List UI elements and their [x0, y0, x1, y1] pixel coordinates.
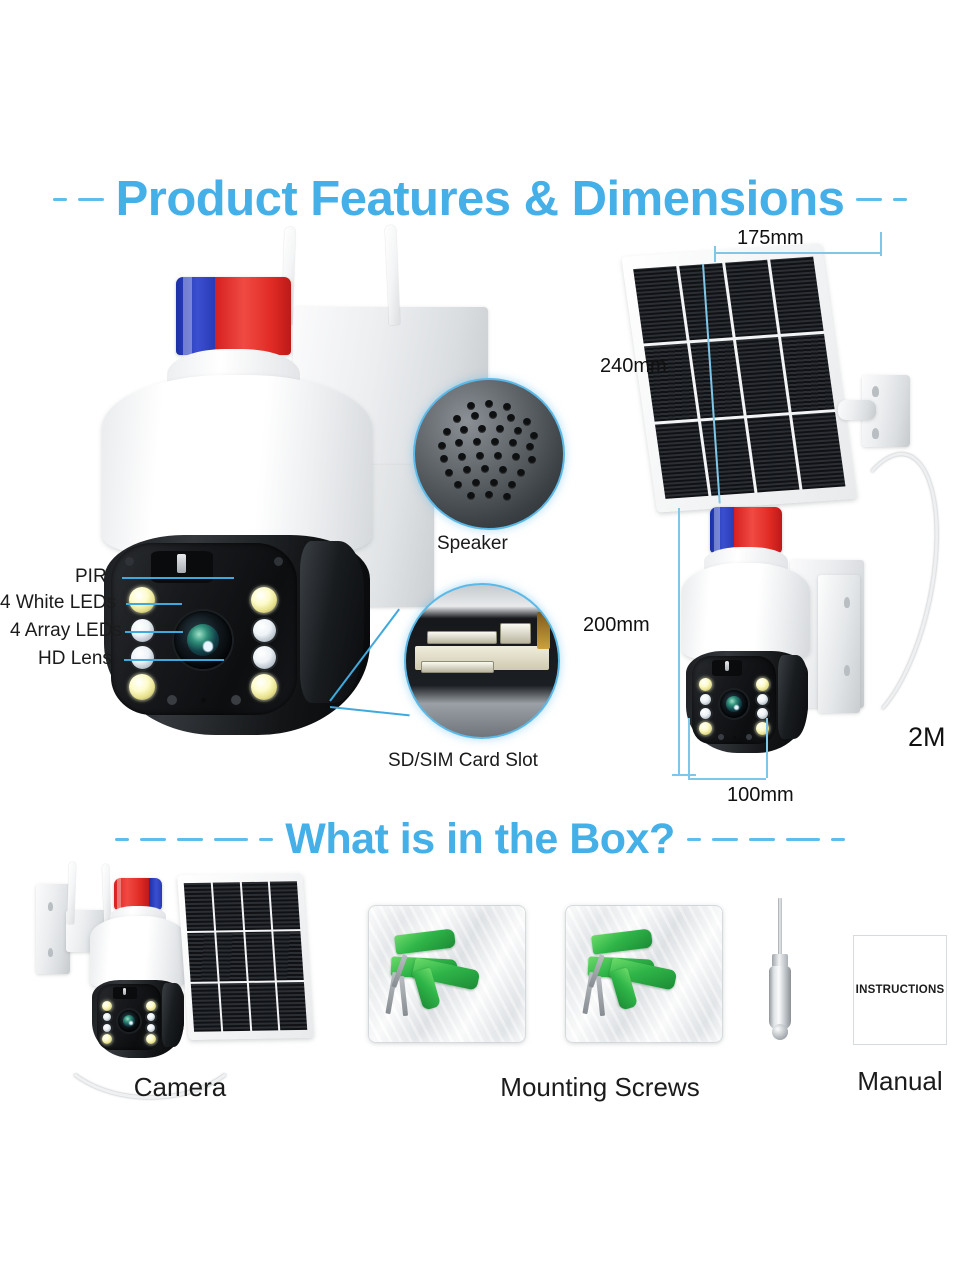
dim-tick-camera-height-bottom [672, 774, 696, 776]
dash [893, 198, 907, 201]
dim-tick-panel-width-left [714, 246, 716, 262]
box-item-label-screws: Mounting Screws [470, 1072, 730, 1103]
box-title-dashes-right [675, 838, 845, 841]
callout-line-array-leds [125, 631, 183, 633]
small-microphone-hole [733, 736, 736, 739]
callout-line-white-leds [126, 603, 182, 605]
small-status-sensor [746, 734, 752, 740]
solar-cell [270, 881, 300, 930]
dash [115, 838, 129, 841]
small-camera-shoulder [778, 655, 808, 739]
array-led [253, 619, 276, 642]
beacon-blue-half [176, 277, 215, 355]
callout-line-pir [122, 577, 234, 579]
capacitor [537, 612, 551, 648]
dash [214, 838, 248, 841]
solar-cell [736, 337, 789, 415]
dash [712, 838, 738, 841]
small-array-led [700, 708, 711, 719]
dash [786, 838, 820, 841]
beacon-gloss [183, 277, 192, 355]
dash [140, 838, 166, 841]
beacon-blue-half [149, 878, 162, 910]
box-item-label-manual: Manual [840, 1066, 960, 1097]
beacon-gloss [117, 878, 121, 910]
dash [259, 838, 273, 841]
features-title-text: Product Features & Dimensions [116, 171, 845, 227]
box-title-text: What is in the Box? [285, 815, 674, 864]
dimensioned-camera-illustration [672, 505, 922, 800]
mount-keyhole-bottom [872, 428, 879, 439]
small-light-sensor [718, 734, 724, 740]
white-led [129, 674, 155, 700]
camera-shoulder [300, 541, 364, 703]
sim-card-slot [421, 661, 494, 673]
mounting-screws-bag-1 [368, 905, 526, 1043]
status-sensor [231, 695, 241, 705]
corner-screw-left [125, 557, 134, 566]
product-infographic: Product Features & Dimensions [0, 0, 960, 1280]
sd-card-slot [427, 631, 497, 645]
microphone-hole [201, 698, 206, 703]
white-led [251, 674, 277, 700]
screwdriver-illustration [760, 898, 802, 1043]
callout-label-speaker: Speaker [437, 533, 508, 555]
callout-label-white-leds: 4 White LEDs [0, 592, 116, 614]
small-white-led [756, 678, 769, 691]
small-pir-sensor [712, 660, 742, 676]
small-camera-dome [682, 563, 810, 659]
wall-anchor [591, 928, 653, 954]
screw [399, 976, 408, 1016]
solar-cell [770, 256, 823, 334]
solar-panel-illustration [621, 242, 878, 523]
small-hd-lens [720, 690, 748, 718]
small-white-led [699, 678, 712, 691]
dash [687, 838, 701, 841]
solar-cell [725, 260, 778, 338]
callout-label-sdsim: SD/SIM Card Slot [388, 750, 538, 772]
small-face-plate [692, 656, 776, 744]
box-item-camera [28, 862, 348, 1062]
small-camera-head [686, 651, 808, 753]
solar-cell [792, 412, 845, 490]
solar-cell [184, 883, 214, 932]
screw [596, 976, 605, 1016]
manual-instruction-booklet: INSTRUCTIONS [853, 935, 947, 1045]
small-array-led [700, 694, 711, 705]
section-title-features: Product Features & Dimensions [0, 168, 960, 230]
dash [177, 838, 203, 841]
box-wall-plate [36, 884, 70, 974]
callout-label-array-leds: 4 Array LEDs [10, 620, 122, 642]
title-dashes-right [844, 198, 907, 201]
screwdriver-end-cap [772, 1024, 788, 1040]
dim-tick-camera-width-left [688, 718, 690, 778]
callout-label-pir: PIR [75, 566, 107, 588]
white-led [251, 587, 277, 613]
dash [831, 838, 845, 841]
solar-cell [633, 266, 686, 344]
sdsim-zoom-bubble [404, 583, 560, 739]
dim-label-panel-height: 240mm [600, 355, 667, 378]
array-led [253, 646, 276, 669]
callout-line-hd-lens [124, 659, 224, 661]
speaker-holes [433, 398, 546, 511]
alarm-beacon [176, 277, 291, 355]
box-title-dashes-left [115, 838, 285, 841]
speaker-zoom-bubble [413, 378, 565, 530]
dim-label-panel-width: 175mm [737, 227, 804, 250]
solar-cell [248, 982, 278, 1031]
array-led [131, 646, 154, 669]
corner-screw-right [274, 557, 283, 566]
dash [53, 198, 67, 201]
title-dashes-left [53, 198, 116, 201]
dim-tick-camera-width-right [766, 718, 768, 778]
beacon-gloss [714, 507, 720, 553]
white-led [129, 587, 155, 613]
solar-cell [781, 334, 834, 412]
mount-keyhole-top [872, 386, 879, 397]
dim-label-camera-height: 200mm [583, 614, 650, 637]
section-title-box: What is in the Box? [0, 812, 960, 866]
camera-face-plate [111, 543, 297, 715]
small-white-led [699, 722, 712, 735]
callout-label-hd-lens: HD Lens [38, 648, 112, 670]
screwdriver-shaft [778, 898, 782, 956]
dim-line-camera-width [688, 778, 766, 780]
camera-head [104, 535, 370, 735]
dim-tick-panel-width-right [880, 232, 882, 256]
solar-cell [277, 982, 307, 1031]
solar-cell [655, 421, 708, 499]
dim-label-camera-width: 100mm [727, 784, 794, 807]
solar-cell [701, 418, 754, 496]
solar-cell [213, 882, 243, 931]
dash [78, 198, 104, 201]
dash [749, 838, 775, 841]
dim-line-camera-height [678, 508, 680, 776]
solar-cell [690, 341, 743, 419]
dim-line-panel-width [714, 252, 882, 254]
screwdriver-handle [769, 966, 791, 1030]
box-plate-keyhole-top [48, 902, 53, 911]
wall-anchor [394, 928, 456, 954]
dim-label-cable-length: 2M [908, 722, 946, 753]
solar-cell [241, 882, 271, 931]
camera-dome-body [102, 375, 372, 553]
light-sensor [167, 695, 177, 705]
dash [856, 198, 882, 201]
box-plate-keyhole-bottom [48, 948, 53, 957]
slot-housing [500, 623, 530, 644]
box-item-label-camera: Camera [120, 1072, 240, 1103]
solar-panel-arm [838, 400, 876, 420]
solar-cell [746, 415, 799, 493]
manual-cover-text: INSTRUCTIONS [856, 984, 945, 996]
mounting-screws-bag-2 [565, 905, 723, 1043]
small-array-led [757, 694, 768, 705]
solar-cell [273, 931, 303, 980]
beacon-red-half [215, 277, 291, 355]
